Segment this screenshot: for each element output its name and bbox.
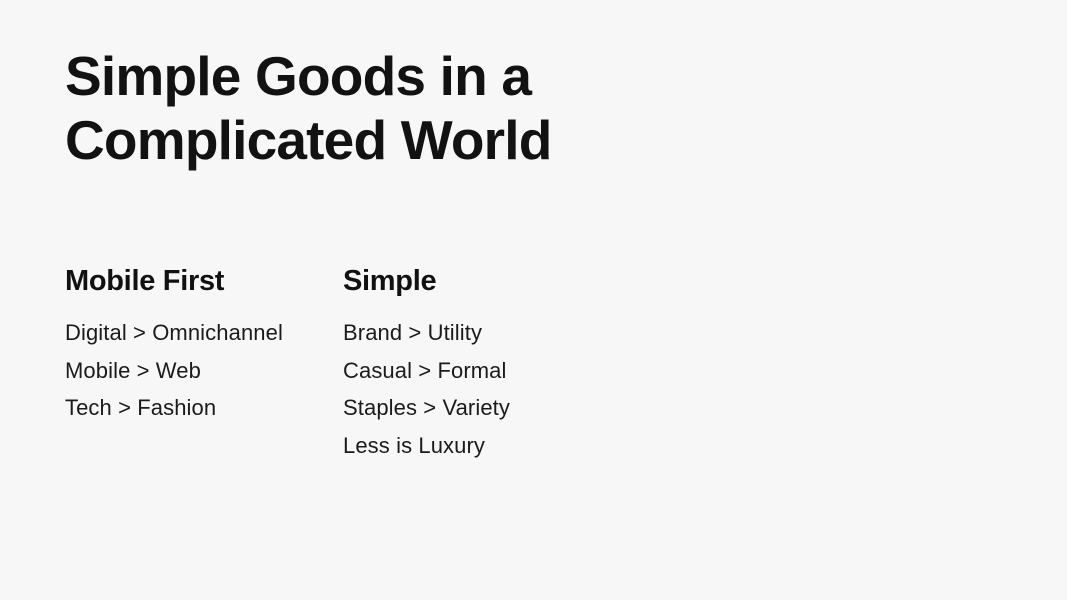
list-simple: Brand > Utility Casual > Formal Staples … (343, 314, 743, 464)
column-heading-mobile-first: Mobile First (65, 264, 343, 298)
list-item: Less is Luxury (343, 427, 743, 465)
column-simple: Simple Brand > Utility Casual > Formal S… (343, 264, 743, 464)
list-item: Tech > Fashion (65, 389, 343, 427)
content-columns: Mobile First Digital > Omnichannel Mobil… (0, 264, 1067, 464)
list-item: Brand > Utility (343, 314, 743, 352)
column-heading-simple: Simple (343, 264, 743, 298)
column-mobile-first: Mobile First Digital > Omnichannel Mobil… (0, 264, 343, 427)
page-title: Simple Goods in a Complicated World (65, 44, 765, 172)
list-item: Mobile > Web (65, 352, 343, 390)
presentation-slide: Simple Goods in a Complicated World Mobi… (0, 0, 1067, 600)
list-mobile-first: Digital > Omnichannel Mobile > Web Tech … (65, 314, 343, 427)
list-item: Staples > Variety (343, 389, 743, 427)
list-item: Digital > Omnichannel (65, 314, 343, 352)
list-item: Casual > Formal (343, 352, 743, 390)
